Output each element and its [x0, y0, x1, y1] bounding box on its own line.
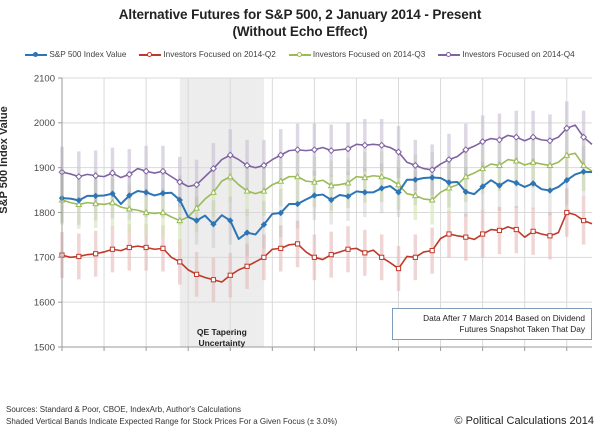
data-point-marker	[110, 247, 114, 251]
chart-title-block: Alternative Futures for S&P 500, 2 Janua…	[0, 6, 600, 40]
data-point-marker	[127, 245, 131, 249]
data-point-marker	[262, 255, 266, 259]
y-axis-tick-label: 1900	[34, 163, 55, 174]
data-point-marker	[480, 166, 485, 171]
data-point-marker	[565, 210, 569, 214]
legend-marker-icon	[25, 50, 47, 59]
footer-line-1: Sources: Standard & Poor, CBOE, IndexArb…	[6, 404, 436, 416]
data-point-marker	[295, 147, 301, 153]
legend-marker-icon	[139, 50, 161, 59]
data-point-marker	[93, 173, 99, 179]
data-point-marker	[480, 139, 486, 145]
data-point-marker	[430, 175, 435, 180]
data-point-marker	[413, 255, 417, 259]
data-point-marker	[328, 148, 334, 154]
chart-title-line-1: Alternative Futures for S&P 500, 2 Janua…	[0, 6, 600, 23]
annotation-note-line-2: Futures Snapshot Taken That Day	[399, 324, 585, 335]
data-point-marker	[312, 147, 318, 153]
data-point-marker	[362, 190, 367, 195]
y-axis-title: S&P 500 Index Value	[0, 100, 10, 220]
footer-copyright: © Political Calculations 2014	[454, 415, 594, 427]
data-point-marker	[396, 266, 400, 270]
annotation-qe-tapering: QE Tapering Uncertainty	[180, 327, 264, 349]
data-point-marker	[430, 249, 434, 253]
data-point-marker	[413, 177, 418, 182]
legend-marker-icon	[438, 50, 460, 59]
legend-item[interactable]: Investors Focused on 2014-Q3	[289, 50, 425, 59]
legend-item[interactable]: Investors Focused on 2014-Q2	[139, 50, 275, 59]
annotation-qe-line-1: QE Tapering	[180, 327, 264, 338]
data-point-marker	[346, 247, 350, 251]
data-point-marker	[464, 235, 468, 239]
data-point-marker	[228, 273, 232, 277]
legend-item-label: Investors Focused on 2014-Q2	[163, 50, 275, 59]
legend-marker-icon	[289, 50, 311, 59]
data-point-marker	[312, 255, 316, 259]
data-point-marker	[295, 242, 299, 246]
data-point-marker	[144, 210, 149, 215]
data-point-marker	[379, 174, 384, 179]
data-point-marker	[178, 260, 182, 264]
chart-container: Alternative Futures for S&P 500, 2 Janua…	[0, 0, 600, 436]
data-point-marker	[110, 170, 116, 176]
data-point-marker	[446, 185, 451, 190]
data-point-marker	[564, 152, 569, 157]
data-point-marker	[77, 254, 81, 258]
data-point-marker	[547, 163, 552, 168]
y-axis-tick-label: 2100	[34, 73, 55, 84]
series-line	[62, 125, 592, 186]
data-point-marker	[548, 234, 552, 238]
legend-item-label: Investors Focused on 2014-Q4	[462, 50, 574, 59]
legend-item[interactable]: S&P 500 Index Value	[25, 50, 126, 59]
data-point-marker	[110, 200, 115, 205]
y-axis-tick-label: 2000	[34, 118, 55, 129]
y-axis-tick-label: 1600	[34, 298, 55, 309]
data-point-marker	[531, 229, 535, 233]
data-point-marker	[278, 178, 283, 183]
chart-legend: S&P 500 Index ValueInvestors Focused on …	[0, 50, 600, 59]
data-point-marker	[76, 174, 82, 180]
data-point-marker	[127, 206, 132, 211]
data-point-marker	[413, 193, 418, 198]
y-axis-tick-label: 1500	[34, 342, 55, 352]
data-point-marker	[363, 251, 367, 255]
data-point-marker	[161, 246, 165, 250]
annotation-note-line-1: Data After 7 March 2014 Based on Dividen…	[399, 313, 585, 324]
data-point-marker	[278, 152, 284, 158]
data-point-marker	[379, 142, 385, 148]
data-point-marker	[211, 278, 215, 282]
data-point-marker	[530, 134, 536, 140]
data-point-marker	[547, 138, 553, 144]
data-point-marker	[380, 255, 384, 259]
annotation-data-note: Data After 7 March 2014 Based on Dividen…	[392, 308, 592, 340]
data-point-marker	[93, 201, 98, 206]
data-point-marker	[481, 232, 485, 236]
data-point-marker	[160, 210, 165, 215]
data-point-marker	[195, 272, 199, 276]
data-point-marker	[463, 174, 468, 179]
data-point-marker	[295, 174, 300, 179]
data-point-marker	[531, 160, 536, 165]
legend-item[interactable]: Investors Focused on 2014-Q4	[438, 50, 574, 59]
legend-item-label: Investors Focused on 2014-Q3	[313, 50, 425, 59]
data-point-marker	[160, 191, 165, 196]
y-axis-tick-label: 1800	[34, 208, 55, 219]
data-point-marker	[514, 158, 519, 163]
data-point-marker	[345, 146, 351, 152]
series-line	[62, 153, 592, 220]
footer-sources: Sources: Standard & Poor, CBOE, IndexArb…	[6, 404, 436, 427]
data-point-marker	[362, 142, 368, 148]
data-point-marker	[581, 218, 585, 222]
data-point-marker	[312, 179, 317, 184]
data-point-marker	[446, 157, 452, 163]
data-point-marker	[144, 245, 148, 249]
legend-item-label: S&P 500 Index Value	[49, 50, 126, 59]
data-point-marker	[93, 193, 98, 198]
data-point-marker	[279, 246, 283, 250]
data-point-marker	[329, 253, 333, 257]
footer-line-2: Shaded Vertical Bands Indicate Expected …	[6, 416, 436, 428]
data-point-marker	[143, 168, 149, 174]
annotation-qe-line-2: Uncertainty	[180, 338, 264, 349]
data-point-marker	[362, 175, 367, 180]
data-point-marker	[245, 264, 249, 268]
data-point-marker	[447, 232, 451, 236]
data-point-marker	[497, 137, 503, 143]
series-line	[62, 213, 592, 282]
data-point-marker	[497, 228, 501, 232]
y-axis-tick-label: 1700	[34, 253, 55, 264]
data-point-marker	[581, 169, 586, 174]
data-point-marker	[94, 252, 98, 256]
data-point-marker	[513, 134, 519, 140]
data-point-marker	[514, 227, 518, 231]
data-point-marker	[144, 190, 149, 195]
chart-title-line-2: (Without Echo Effect)	[0, 23, 600, 40]
